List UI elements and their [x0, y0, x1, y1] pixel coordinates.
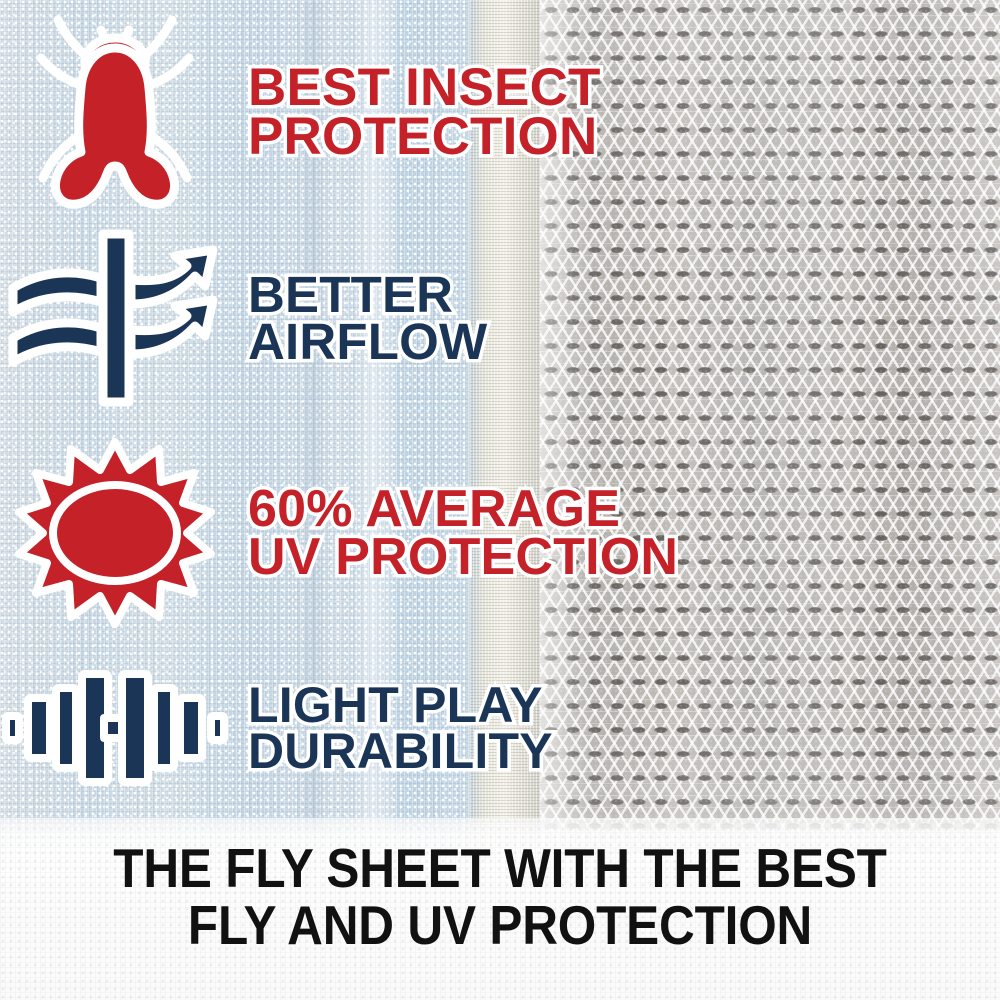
feature-line-1: 60% AVERAGE [248, 485, 678, 533]
feature-text-better-airflow: BETTER AIRFLOW [230, 271, 487, 366]
feature-line-1: BEST INSECT [248, 63, 601, 112]
feature-line-2: DURABILITY [248, 728, 553, 775]
airflow-barrier-arrows-icon [0, 230, 230, 406]
feature-text-light-play-durability: LIGHT PLAY DURABILITY [230, 682, 553, 775]
caption-line-1: THE FLY SHEET WITH THE BEST [50, 840, 950, 897]
dumbbell-durability-icon [0, 666, 230, 790]
feature-row-insect-protection: BEST INSECT PROTECTION [0, 12, 601, 212]
feature-line-1: BETTER [248, 271, 487, 318]
bottom-caption-band: THE FLY SHEET WITH THE BEST FLY AND UV P… [0, 818, 1000, 1000]
feature-text-insect-protection: BEST INSECT PROTECTION [230, 63, 601, 162]
fly-insect-icon [0, 14, 230, 210]
feature-text-uv-protection: 60% AVERAGE UV PROTECTION [230, 485, 678, 582]
feature-list: BEST INSECT PROTECTION [0, 0, 1000, 822]
feature-line-1: LIGHT PLAY [248, 682, 553, 729]
caption-line-2: FLY AND UV PROTECTION [50, 897, 950, 954]
feature-row-light-play-durability: LIGHT PLAY DURABILITY [0, 648, 553, 808]
feature-line-2: AIRFLOW [248, 318, 487, 365]
feature-row-better-airflow: BETTER AIRFLOW [0, 228, 487, 408]
caption-text-block: THE FLY SHEET WITH THE BEST FLY AND UV P… [0, 840, 1000, 954]
feature-line-2: UV PROTECTION [248, 533, 678, 581]
feature-line-2: PROTECTION [248, 112, 601, 161]
sun-uv-icon [0, 440, 230, 626]
feature-row-uv-protection: 60% AVERAGE UV PROTECTION [0, 428, 678, 638]
product-feature-graphic: BEST INSECT PROTECTION [0, 0, 1000, 1000]
